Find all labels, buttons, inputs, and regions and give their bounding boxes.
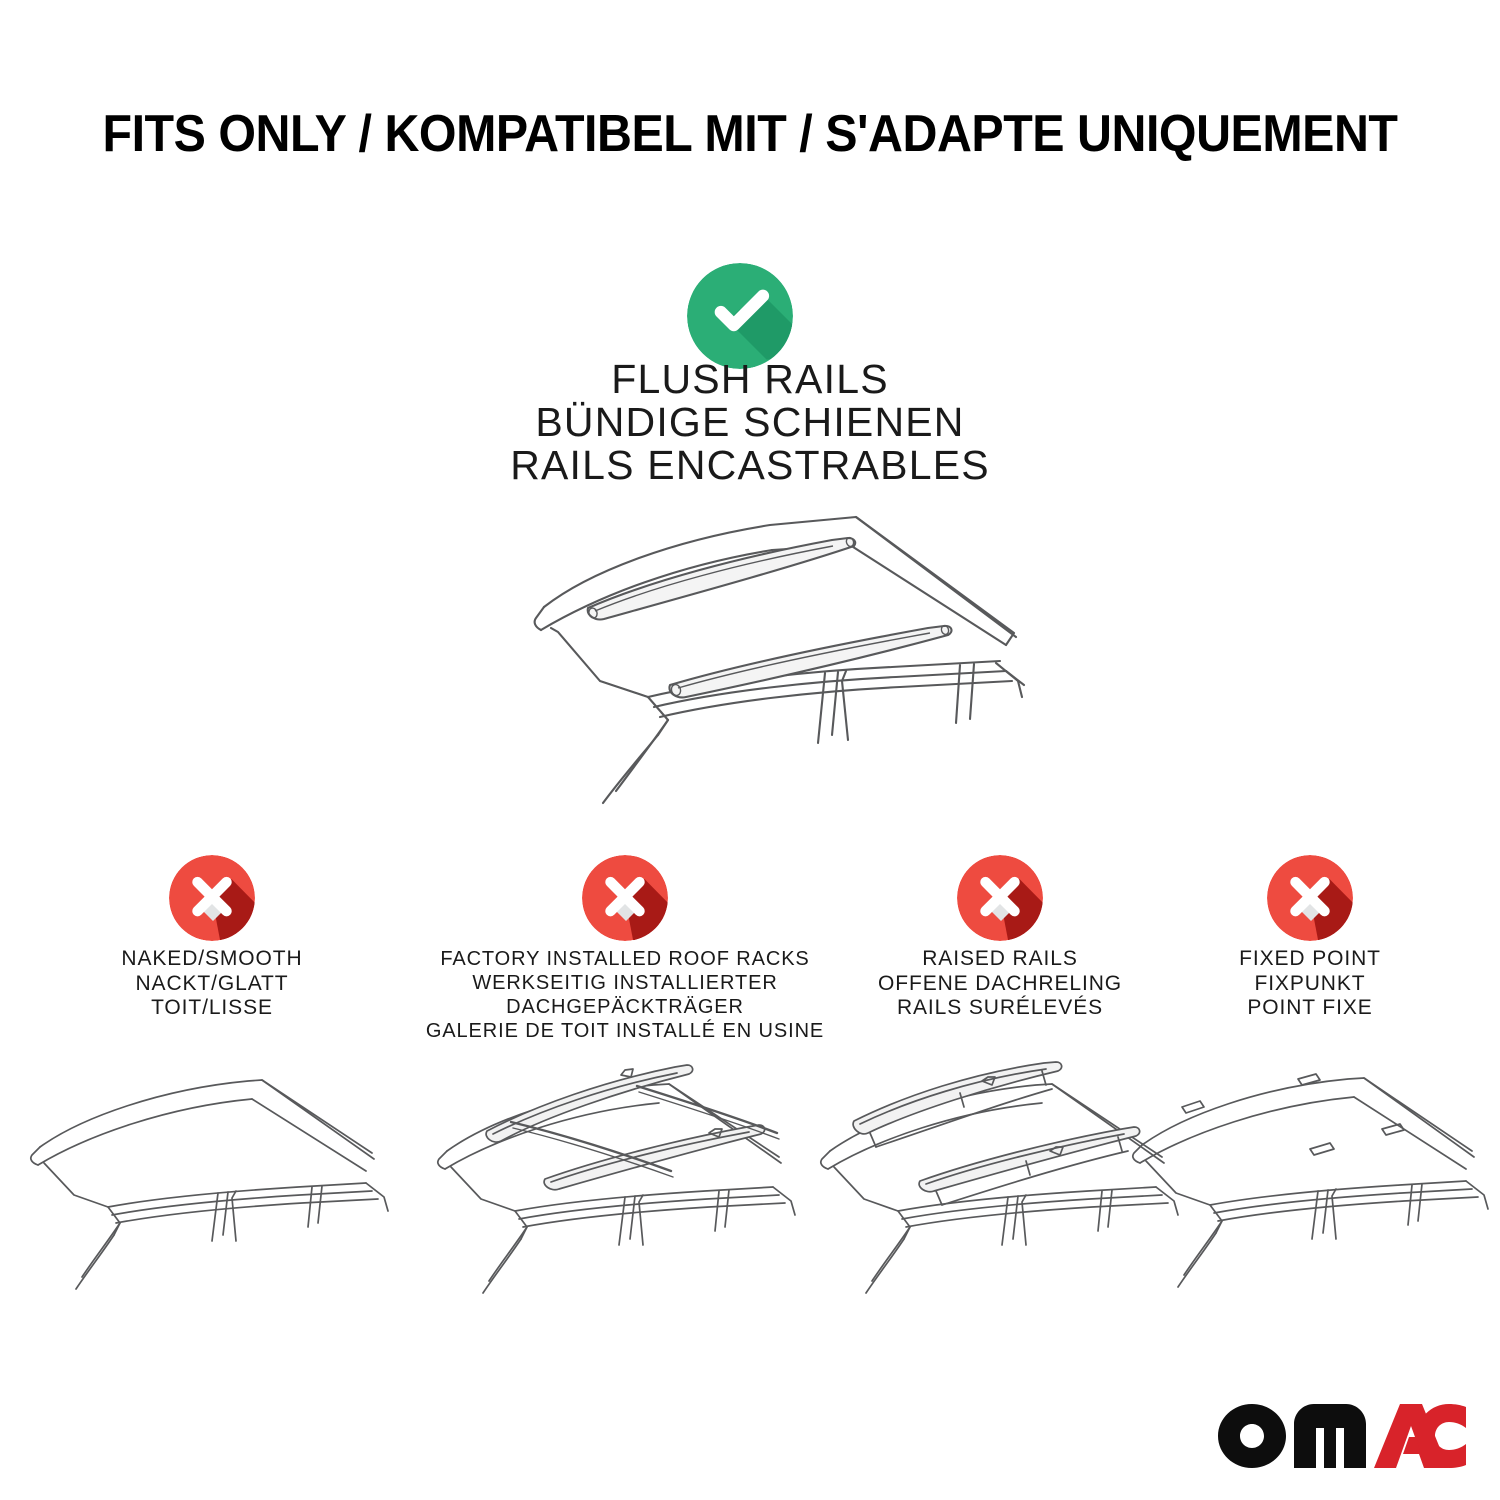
option-label-en: NAKED/SMOOTH [22, 947, 402, 972]
cross-circle-icon [169, 855, 255, 941]
cross-circle-icon [582, 855, 668, 941]
infographic-page: FITS ONLY / KOMPATIBEL MIT / S'ADAPTE UN… [0, 0, 1500, 1500]
compatible-label-de: BÜNDIGE SCHIENEN [250, 401, 1250, 444]
option-label-de: NACKT/GLATT [22, 972, 402, 997]
cross-circle-icon [957, 855, 1043, 941]
badge-wrapper [435, 855, 815, 951]
option-label-de-2: DACHGEPÄCKTRÄGER [405, 995, 845, 1019]
compatible-label: FLUSH RAILS BÜNDIGE SCHIENEN RAILS ENCAS… [250, 358, 1250, 487]
option-label-fr: GALERIE DE TOIT INSTALLÉ EN USINE [405, 1019, 845, 1043]
option-label-de: FIXPUNKT [1120, 972, 1500, 997]
car-roof-with-flush-rails-illustration [440, 485, 1060, 825]
option-label: FACTORY INSTALLED ROOF RACKS WERKSEITIG … [405, 947, 845, 1043]
incompatible-option-factory-roof-racks: FACTORY INSTALLED ROOF RACKS WERKSEITIG … [435, 855, 815, 951]
badge-wrapper [22, 855, 402, 951]
compatible-label-en: FLUSH RAILS [250, 358, 1250, 401]
cross-circle-icon [1267, 855, 1353, 941]
option-label-fr: TOIT/LISSE [22, 996, 402, 1021]
page-title: FITS ONLY / KOMPATIBEL MIT / S'ADAPTE UN… [53, 104, 1448, 164]
badge-wrapper [1120, 855, 1500, 951]
option-label: NAKED/SMOOTH NACKT/GLATT TOIT/LISSE [22, 947, 402, 1021]
car-roof-factory-roof-racks-illustration [425, 1055, 825, 1295]
incompatible-option-naked-smooth: NAKED/SMOOTH NACKT/GLATT TOIT/LISSE [22, 855, 402, 951]
car-roof-naked-smooth-illustration [22, 1055, 402, 1295]
option-label-fr: POINT FIXE [1120, 996, 1500, 1021]
car-roof-fixed-point-illustration [1120, 1055, 1500, 1295]
compatible-label-fr: RAILS ENCASTRABLES [250, 444, 1250, 487]
option-label-de-1: WERKSEITIG INSTALLIERTER [405, 971, 845, 995]
check-circle-icon [687, 263, 793, 369]
incompatible-option-fixed-point: FIXED POINT FIXPUNKT POINT FIXE [1120, 855, 1500, 951]
omac-logo [1218, 1404, 1466, 1468]
option-label: FIXED POINT FIXPUNKT POINT FIXE [1120, 947, 1500, 1021]
option-label-en: FACTORY INSTALLED ROOF RACKS [405, 947, 845, 971]
option-label-en: FIXED POINT [1120, 947, 1500, 972]
